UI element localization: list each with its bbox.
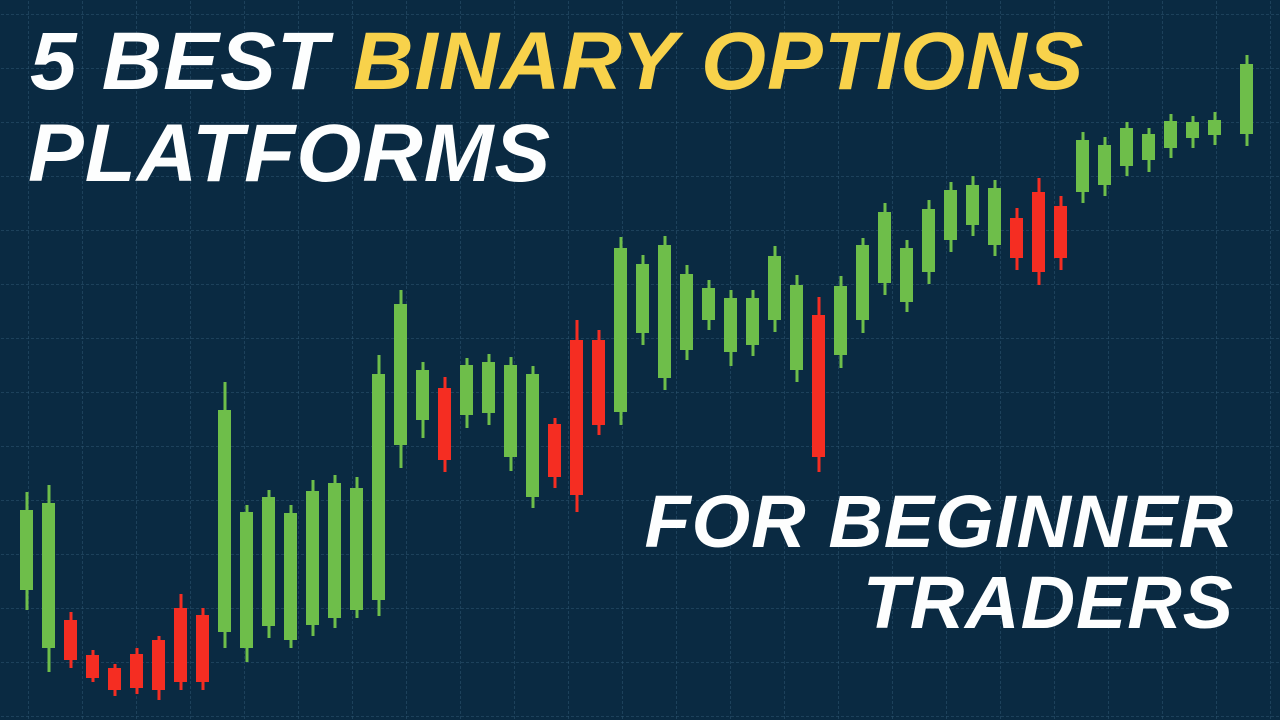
candlestick-body [746, 298, 759, 345]
candlestick-body [262, 497, 275, 626]
candlestick-body [394, 304, 407, 445]
candlestick [592, 330, 605, 435]
candlestick-body [372, 374, 385, 600]
candlestick [394, 290, 407, 468]
candlestick-body [218, 410, 231, 632]
candlestick [482, 354, 495, 425]
candlestick [988, 180, 1001, 256]
candlestick-body [988, 188, 1001, 245]
candlestick [64, 612, 77, 668]
candlestick [20, 492, 33, 610]
candlestick-body [966, 185, 979, 225]
candlestick [570, 320, 583, 512]
headline-accent: BINARY OPTIONS [353, 16, 1084, 107]
headline-prefix: 5 BEST [30, 16, 353, 107]
candlestick-body [570, 340, 583, 495]
candlestick-body [526, 374, 539, 497]
candlestick [1098, 137, 1111, 196]
candlestick [1142, 128, 1155, 172]
candlestick-body [922, 209, 935, 272]
candlestick [504, 357, 517, 471]
candlestick-body [702, 288, 715, 320]
candlestick-body [460, 365, 473, 415]
candlestick-body [284, 513, 297, 640]
candlestick-body [636, 264, 649, 333]
candlestick-body [1208, 120, 1221, 135]
candlestick [724, 290, 737, 366]
candlestick [856, 238, 869, 333]
candlestick [1208, 112, 1221, 145]
candlestick-body [174, 608, 187, 682]
subheadline-line-2: TRADERS [863, 570, 1234, 637]
candlestick-body [724, 298, 737, 352]
candlestick-body [548, 424, 561, 477]
candlestick [460, 358, 473, 428]
candlestick [196, 608, 209, 690]
candlestick-body [108, 668, 121, 690]
candlestick-body [592, 340, 605, 425]
candlestick-body [328, 483, 341, 618]
candlestick [702, 280, 715, 330]
candlestick [1076, 132, 1089, 203]
candlestick-body [1142, 134, 1155, 160]
candlestick-body [504, 365, 517, 457]
candlestick [1120, 122, 1133, 176]
candlestick [1032, 178, 1045, 285]
candlestick-body [482, 362, 495, 413]
candlestick-body [152, 640, 165, 690]
candlestick-body [680, 274, 693, 350]
candlestick [878, 203, 891, 295]
candlestick-body [130, 654, 143, 688]
candlestick [416, 362, 429, 438]
candlestick-body [812, 315, 825, 457]
candlestick [1164, 114, 1177, 158]
candlestick [790, 275, 803, 382]
candlestick-body [1010, 218, 1023, 258]
candlestick-body [900, 248, 913, 302]
candlestick [350, 477, 363, 618]
candlestick-body [350, 488, 363, 610]
candlestick-body [196, 615, 209, 682]
candlestick [152, 636, 165, 700]
candlestick [372, 355, 385, 616]
subheadline-line-1: FOR BEGINNER [644, 489, 1234, 556]
candlestick [680, 265, 693, 360]
candlestick [1240, 55, 1253, 146]
candlestick-body [64, 620, 77, 660]
candlestick-body [834, 286, 847, 355]
candlestick-body [878, 212, 891, 283]
candlestick [130, 648, 143, 694]
candlestick [812, 297, 825, 472]
candlestick [614, 237, 627, 425]
candlestick [262, 490, 275, 638]
candlestick-body [240, 512, 253, 648]
candlestick-body [438, 388, 451, 460]
candlestick [284, 505, 297, 648]
candlestick [834, 276, 847, 368]
candlestick-body [1032, 192, 1045, 272]
candlestick [922, 200, 935, 284]
candlestick [438, 377, 451, 472]
candlestick [548, 418, 561, 488]
candlestick-body [306, 491, 319, 625]
candlestick-body [768, 256, 781, 320]
candlestick [218, 382, 231, 648]
candlestick-body [416, 370, 429, 420]
candlestick-body [1120, 128, 1133, 166]
candlestick-body [658, 245, 671, 378]
candlestick-body [20, 510, 33, 590]
candlestick [768, 246, 781, 332]
candlestick [306, 480, 319, 636]
candlestick [900, 240, 913, 312]
candlestick [240, 505, 253, 662]
headline-line-2: PLATFORMS [28, 118, 551, 190]
candlestick [86, 650, 99, 682]
candlestick-body [1186, 122, 1199, 138]
candlestick-body [944, 190, 957, 240]
candlestick-body [86, 655, 99, 678]
candlestick [746, 290, 759, 356]
candlestick [1186, 116, 1199, 148]
promo-banner: 5 BEST BINARY OPTIONS PLATFORMS FOR BEGI… [0, 0, 1280, 720]
candlestick [328, 475, 341, 628]
candlestick [42, 485, 55, 672]
candlestick [636, 255, 649, 345]
candlestick [966, 176, 979, 236]
candlestick-body [856, 245, 869, 320]
headline-line-1: 5 BEST BINARY OPTIONS [30, 26, 1084, 98]
candlestick-body [614, 248, 627, 412]
candlestick-body [1240, 64, 1253, 134]
candlestick-body [1054, 206, 1067, 258]
candlestick-body [42, 503, 55, 648]
candlestick [1054, 196, 1067, 270]
candlestick-body [1076, 140, 1089, 192]
candlestick-body [1098, 145, 1111, 185]
candlestick [658, 236, 671, 390]
candlestick-body [1164, 121, 1177, 148]
candlestick [944, 182, 957, 252]
candlestick-body [790, 285, 803, 370]
candlestick [526, 366, 539, 508]
candlestick [1010, 208, 1023, 270]
candlestick [174, 594, 187, 690]
candlestick [108, 664, 121, 696]
